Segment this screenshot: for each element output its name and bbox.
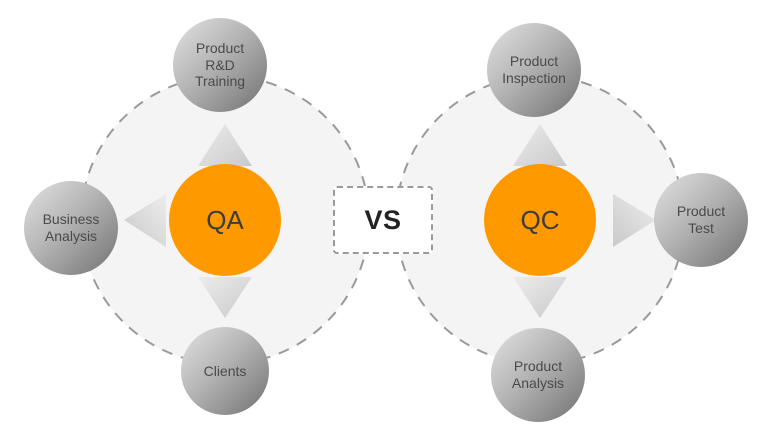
node-product-rd-training[interactable]: Product R&D Training [173,18,267,112]
hub-qc[interactable]: QC [484,164,596,276]
vs-divider-box: VS [333,186,433,254]
node-label: Business Analysis [39,211,104,244]
node-product-inspection[interactable]: Product Inspection [487,23,581,117]
node-label: Product Analysis [508,358,568,391]
node-clients[interactable]: Clients [181,327,269,415]
node-label: Product Test [673,203,729,236]
node-label: Clients [200,363,251,380]
vs-label: VS [364,205,401,236]
node-label: Product Inspection [498,53,570,86]
hub-label: QA [202,205,248,236]
node-product-test[interactable]: Product Test [654,173,748,267]
node-label: Product R&D Training [191,40,249,90]
node-product-analysis[interactable]: Product Analysis [491,328,585,422]
hub-qa[interactable]: QA [169,164,281,276]
node-business-analysis[interactable]: Business Analysis [24,181,118,275]
diagram-canvas: Product R&D Training Business Analysis C… [0,0,768,444]
hub-label: QC [517,205,564,236]
